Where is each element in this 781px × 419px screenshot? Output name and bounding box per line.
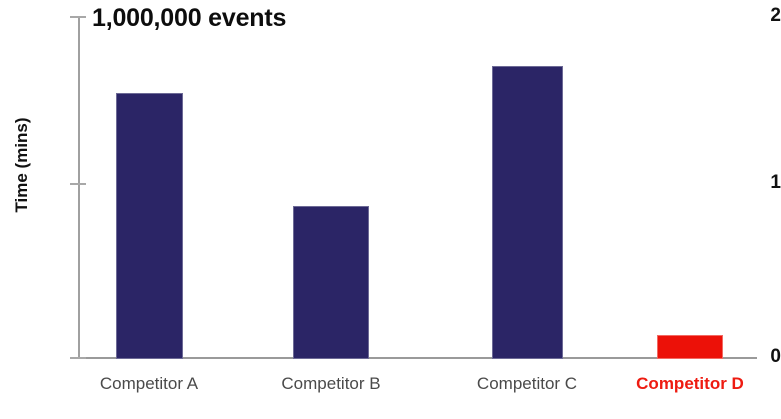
x-axis-label-competitor-a: Competitor A [86, 374, 212, 394]
plot-area [0, 0, 781, 419]
bar-competitor-a[interactable] [116, 93, 183, 359]
x-axis-label-competitor-b: Competitor B [268, 374, 394, 394]
bar-competitor-b[interactable] [293, 206, 369, 359]
x-axis-label-competitor-d: Competitor D [627, 374, 753, 394]
bar-competitor-d[interactable] [657, 335, 723, 359]
x-axis-label-competitor-c: Competitor C [464, 374, 590, 394]
bar-competitor-c[interactable] [492, 66, 563, 359]
bar-chart: 1,000,000 events Time (mins) 0 1 2 Compe… [0, 0, 781, 419]
